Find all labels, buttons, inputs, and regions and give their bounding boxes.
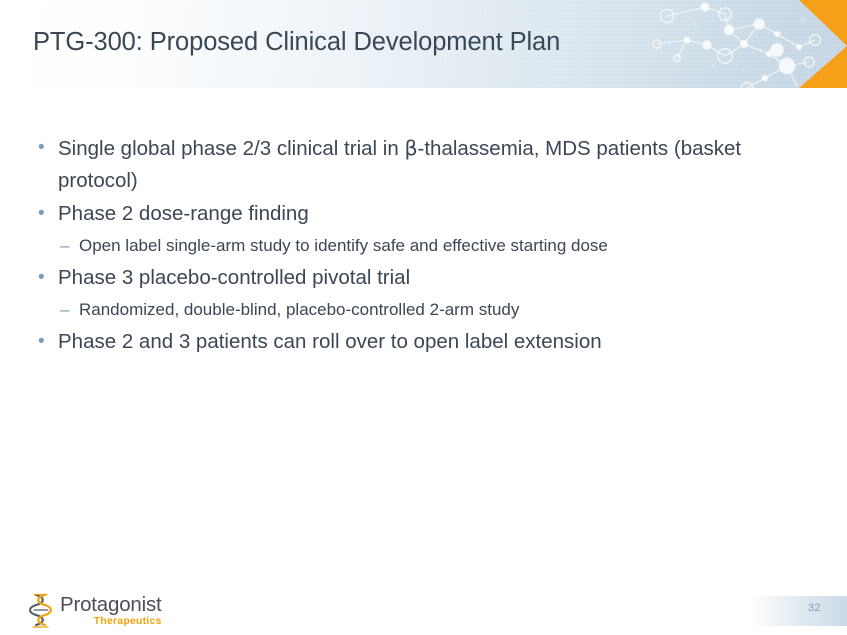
footer-gradient-band	[750, 596, 847, 626]
list-item-text: Phase 3 placebo-controlled pivotal trial	[58, 262, 410, 294]
page-number: 32	[808, 602, 821, 614]
orange-chevron-icon	[777, 0, 847, 88]
list-item: • Single global phase 2/3 clinical trial…	[0, 132, 847, 197]
list-item: • Phase 2 and 3 patients can roll over t…	[0, 326, 847, 358]
list-item-text: Single global phase 2/3 clinical trial i…	[58, 132, 788, 197]
bullet-marker-icon: •	[36, 262, 58, 294]
sub-list-item-text: Open label single-arm study to identify …	[79, 231, 608, 261]
list-item: • Phase 3 placebo-controlled pivotal tri…	[0, 262, 847, 294]
slide-body: • Single global phase 2/3 clinical trial…	[0, 132, 847, 359]
slide-header-band: PTG-300: Proposed Clinical Development P…	[0, 0, 847, 88]
dash-marker-icon: –	[60, 295, 79, 325]
logo-wordmark: Protagonist Therapeutics	[60, 594, 162, 628]
company-logo: Protagonist Therapeutics	[28, 592, 162, 630]
list-item-text: Phase 2 and 3 patients can roll over to …	[58, 326, 602, 358]
sub-list-item: – Open label single-arm study to identif…	[0, 231, 847, 261]
dash-marker-icon: –	[60, 231, 79, 261]
logo-company-name: Protagonist	[60, 594, 162, 615]
beta-symbol: β	[404, 136, 417, 160]
logo-tagline: Therapeutics	[60, 615, 162, 628]
bullet-marker-icon: •	[36, 326, 58, 358]
dna-helix-icon	[28, 592, 55, 630]
list-item-text-part: Single global phase 2/3 clinical trial i…	[58, 137, 404, 160]
page-title: PTG-300: Proposed Clinical Development P…	[33, 28, 560, 57]
sub-list-item-text: Randomized, double-blind, placebo-contro…	[79, 295, 519, 325]
list-item: • Phase 2 dose-range finding	[0, 198, 847, 230]
bullet-marker-icon: •	[36, 132, 58, 164]
list-item-text: Phase 2 dose-range finding	[58, 198, 309, 230]
sub-list-item: – Randomized, double-blind, placebo-cont…	[0, 295, 847, 325]
slide-canvas: PTG-300: Proposed Clinical Development P…	[0, 0, 847, 635]
bullet-marker-icon: •	[36, 198, 58, 230]
